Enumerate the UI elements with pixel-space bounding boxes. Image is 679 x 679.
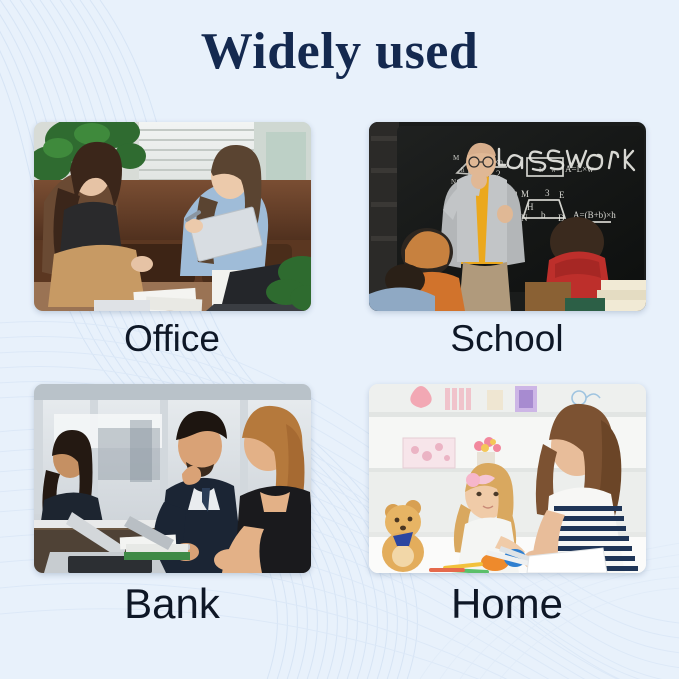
home-scene-illustration <box>369 384 646 573</box>
svg-text:M: M <box>453 154 460 162</box>
photo-bank <box>34 384 311 573</box>
card-label-bank: Bank <box>124 581 220 627</box>
page-title: Widely used <box>0 26 679 78</box>
card-office[interactable]: Office <box>34 122 311 360</box>
page-root: Widely used <box>0 0 679 679</box>
card-home[interactable]: Home <box>369 384 646 627</box>
bank-scene-illustration <box>34 384 311 573</box>
card-label-home: Home <box>451 581 563 627</box>
svg-text:L: L <box>539 166 543 174</box>
card-bank[interactable]: Bank <box>34 384 311 627</box>
photo-school: M N E h h b×h 2 A=L×w <box>369 122 646 311</box>
svg-text:3: 3 <box>545 188 550 198</box>
svg-text:h: h <box>461 166 465 174</box>
usage-scenarios-grid: Office <box>0 122 679 627</box>
card-label-office: Office <box>124 319 220 360</box>
grid-row-bottom: Bank <box>0 384 679 627</box>
svg-text:M: M <box>521 189 529 199</box>
svg-text:A=L×w: A=L×w <box>565 164 594 174</box>
card-school[interactable]: M N E h h b×h 2 A=L×w <box>369 122 646 360</box>
photo-home <box>369 384 646 573</box>
svg-text:E: E <box>559 190 565 200</box>
grid-row-top: Office <box>0 122 679 360</box>
office-scene-illustration <box>34 122 311 311</box>
school-scene-illustration: M N E h h b×h 2 A=L×w <box>369 122 646 311</box>
card-label-school: School <box>450 319 563 360</box>
photo-office <box>34 122 311 311</box>
